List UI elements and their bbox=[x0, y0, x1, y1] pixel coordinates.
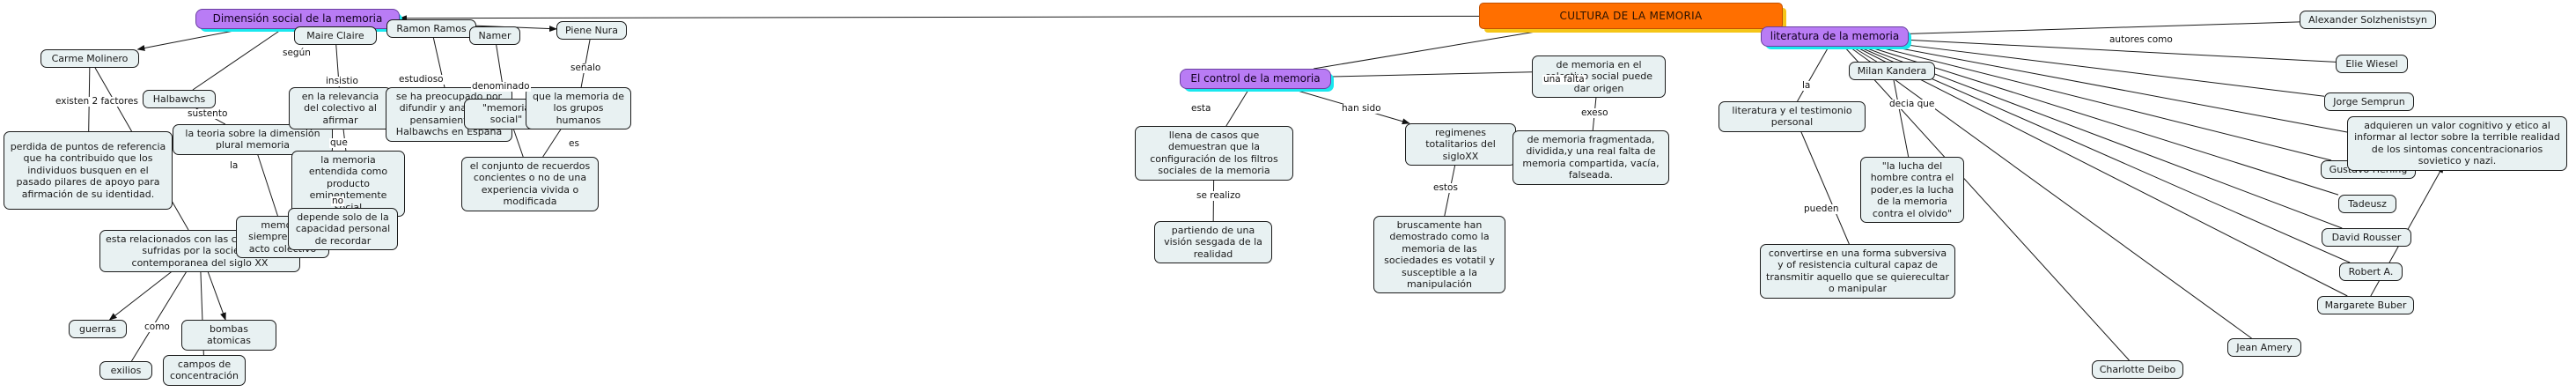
concept-node-jorge[interactable]: Jorge Semprun bbox=[2324, 92, 2414, 111]
concept-node-regimenes[interactable]: regimenes totalitarios del sigloXX bbox=[1405, 123, 1516, 166]
edge-label-segun: según bbox=[282, 48, 312, 58]
concept-node-namer[interactable]: Namer bbox=[469, 26, 520, 45]
edge-label-autores_como: autores como bbox=[2109, 35, 2174, 45]
concept-map-canvas: CULTURA DE LA MEMORIADimensión social de… bbox=[0, 0, 2576, 392]
edge-label-no: no bbox=[331, 196, 344, 206]
concept-node-control[interactable]: El control de la memoria bbox=[1180, 69, 1331, 89]
edge-label-sustento: sustento bbox=[187, 109, 228, 119]
edge-label-insistio: insistio bbox=[325, 77, 359, 86]
concept-node-carme[interactable]: Carme Molinero bbox=[40, 49, 139, 68]
edge-literatura-to-jorge bbox=[1909, 45, 2324, 96]
concept-node-subversiva[interactable]: convertirse en una forma subversiva y of… bbox=[1760, 244, 1955, 299]
concept-node-adquieren[interactable]: adquieren un valor cognitivo y etico al … bbox=[2347, 116, 2567, 171]
edge-label-que1: que bbox=[329, 138, 349, 148]
edge-label-exeso: exeso bbox=[1580, 108, 1609, 118]
edge-label-esta: esta bbox=[1190, 104, 1211, 114]
edge-label-estudioso: estudioso bbox=[398, 75, 445, 85]
edge-convulsiones-to-guerras bbox=[110, 270, 174, 320]
edge-label-senalo: señalo bbox=[570, 63, 601, 73]
edge-convulsiones-to-exilios bbox=[131, 270, 188, 361]
concept-node-recuerdos[interactable]: el conjunto de recuerdos concientes o no… bbox=[461, 157, 599, 211]
concept-node-bruscamente[interactable]: bruscamente han demostrado como la memor… bbox=[1373, 216, 1505, 293]
concept-node-robert[interactable]: Robert A. bbox=[2339, 263, 2403, 281]
concept-node-depende[interactable]: depende solo de la capacidad personal de… bbox=[288, 208, 398, 250]
edge-label-existen2: existen 2 factores bbox=[55, 97, 139, 107]
edge-literatura-to-levi bbox=[1887, 46, 2347, 132]
edge-label-han_sido: han sido bbox=[1341, 104, 1382, 114]
concept-node-milan[interactable]: Milan Kandera bbox=[1849, 62, 1935, 80]
edge-label-una_falta: una falta bbox=[1542, 75, 1586, 85]
concept-node-lit_testimonio[interactable]: literatura y el testimonio personal bbox=[1719, 101, 1866, 132]
edge-literatura-to-lit_testimonio bbox=[1798, 46, 1829, 101]
concept-node-sesgada[interactable]: partiendo de una visión sesgada de la re… bbox=[1154, 221, 1272, 263]
edge-dim_social-to-carme bbox=[137, 28, 247, 49]
edge-lit_testimonio-to-subversiva bbox=[1796, 120, 1849, 244]
concept-node-guerras[interactable]: guerras bbox=[69, 320, 127, 338]
concept-node-perdida[interactable]: perdida de puntos de referencia que ha c… bbox=[4, 131, 173, 210]
edge-label-como: como bbox=[144, 322, 171, 332]
concept-node-grupos[interactable]: que la memoria de los grupos humanos bbox=[526, 87, 631, 129]
edge-label-se_realizo: se realizo bbox=[1196, 191, 1241, 201]
edge-root-to-control bbox=[1314, 29, 1551, 69]
concept-node-root[interactable]: CULTURA DE LA MEMORIA bbox=[1479, 3, 1783, 29]
edge-label-la1: la bbox=[229, 161, 239, 171]
edge-root-to-dim_social bbox=[400, 16, 1479, 18]
concept-node-ramon[interactable]: Ramon Ramos bbox=[386, 19, 476, 38]
concept-node-alexander[interactable]: Alexander Solzhenistsyn bbox=[2300, 11, 2436, 29]
edge-milan-to-lucha bbox=[1894, 80, 1909, 157]
edge-label-decia_que: decia que bbox=[1888, 100, 1935, 109]
concept-node-halbawchs[interactable]: Halbawchs bbox=[143, 90, 216, 108]
edge-literatura-to-gustavo bbox=[1873, 46, 2331, 160]
concept-node-bombas[interactable]: bombas atomicas bbox=[181, 320, 276, 351]
edge-label-pueden: pueden bbox=[1803, 204, 1840, 214]
edge-label-es1: es bbox=[568, 139, 580, 149]
edge-teoria_plural-to-mem_colectivo bbox=[258, 154, 278, 216]
concept-node-margarete[interactable]: Margarete Buber bbox=[2317, 296, 2414, 314]
concept-node-lucha[interactable]: "la lucha del hombre contra el poder,es … bbox=[1860, 157, 1964, 223]
concept-node-jean[interactable]: Jean Amery bbox=[2227, 338, 2301, 357]
concept-node-llena[interactable]: llena de casos que demuestran que la con… bbox=[1135, 126, 1293, 181]
concept-node-relevancia[interactable]: en la relevancia del colectivo al afirma… bbox=[289, 87, 392, 129]
concept-node-fragmentada[interactable]: de memoria fragmentada, dividida,y una r… bbox=[1512, 130, 1669, 185]
concept-node-david[interactable]: David Rousser bbox=[2322, 228, 2411, 247]
concept-node-piene[interactable]: Piene Nura bbox=[556, 21, 627, 40]
concept-node-campos[interactable]: campos de concentración bbox=[163, 355, 246, 386]
edge-label-denominado: denominado bbox=[471, 82, 531, 92]
concept-node-maire[interactable]: Maire Claire bbox=[294, 26, 377, 45]
edge-literatura-to-alexander bbox=[1909, 22, 2300, 34]
concept-node-elie[interactable]: Elie Wiesel bbox=[2336, 55, 2408, 73]
concept-node-literatura[interactable]: literatura de la memoria bbox=[1761, 26, 1909, 47]
edge-dim_social-to-halbawchs bbox=[193, 28, 283, 90]
edge-convulsiones-to-bombas bbox=[207, 270, 225, 320]
edge-label-la2: la bbox=[1801, 81, 1811, 91]
concept-node-exilios[interactable]: exilios bbox=[99, 361, 152, 380]
concept-node-charlotte[interactable]: Charlotte Deibo bbox=[2092, 360, 2183, 379]
edge-literatura-to-milan bbox=[1851, 46, 1877, 62]
edge-label-estos: estos bbox=[1432, 183, 1459, 193]
edge-control-to-llena bbox=[1226, 88, 1249, 126]
concept-node-mem_entendida[interactable]: la memoria entendida como producto emine… bbox=[291, 151, 405, 217]
edge-control-to-colectivo_origen bbox=[1331, 72, 1532, 77]
concept-node-tadeusz[interactable]: Tadeusz bbox=[2338, 195, 2396, 213]
